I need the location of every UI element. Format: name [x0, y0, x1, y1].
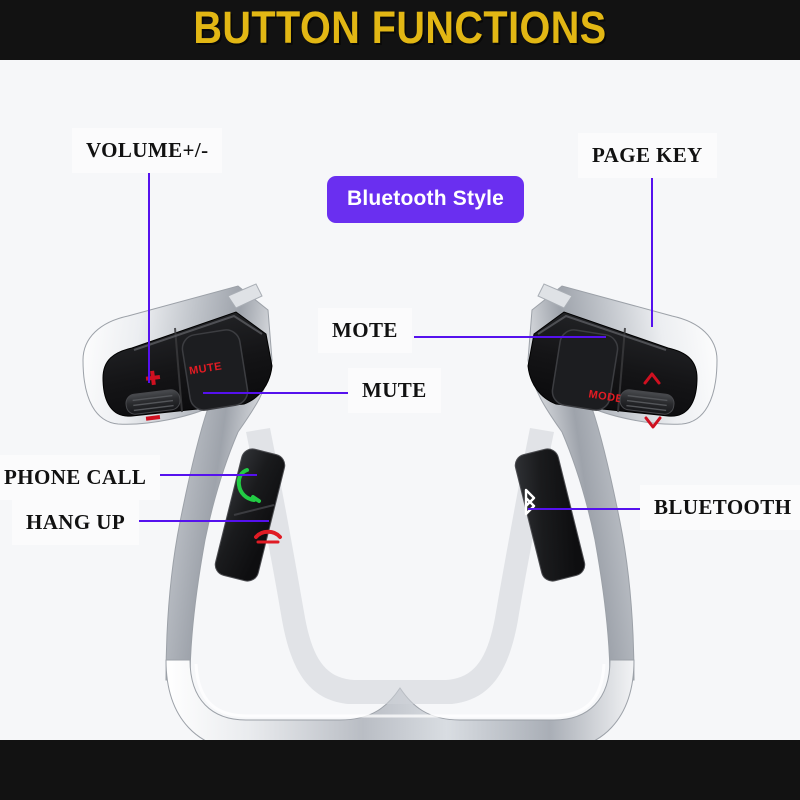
- leader-line-volume: [148, 163, 150, 383]
- footer-banner: [0, 740, 800, 800]
- header-banner: BUTTON FUNCTIONS: [0, 0, 800, 60]
- callout-hang-up: HANG UP: [12, 500, 139, 545]
- leader-line-mote: [414, 336, 606, 338]
- style-badge: Bluetooth Style: [327, 176, 524, 223]
- inner-trim-channel: [246, 428, 554, 704]
- callout-mute: MUTE: [348, 368, 441, 413]
- product-diagram-page: BUTTON FUNCTIONS: [0, 0, 800, 800]
- pod-mount-tabs: [228, 284, 572, 308]
- leader-line-hang-up: [134, 520, 269, 522]
- callout-page-key: PAGE KEY: [578, 133, 717, 178]
- callout-bluetooth: BLUETOOTH: [640, 485, 800, 530]
- callout-volume: VOLUME+/-: [72, 128, 222, 173]
- leader-line-mute: [203, 392, 350, 394]
- leader-line-bluetooth: [528, 508, 646, 510]
- callout-phone-call: PHONE CALL: [0, 455, 160, 500]
- page-title: BUTTON FUNCTIONS: [48, 0, 752, 60]
- leader-line-page-key: [651, 172, 653, 327]
- callout-mote: MOTE: [318, 308, 412, 353]
